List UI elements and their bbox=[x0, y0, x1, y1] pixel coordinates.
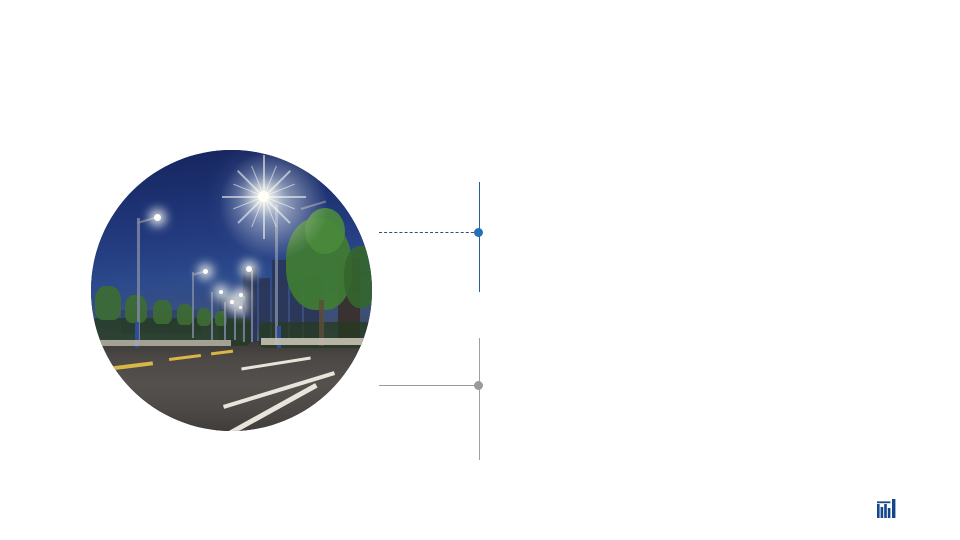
photo-tree bbox=[153, 300, 172, 324]
photo-lamp-light bbox=[239, 306, 242, 309]
photo-lamp-pole bbox=[192, 272, 194, 338]
photo-lamp-light bbox=[203, 269, 208, 274]
huapu-factory-logo-mark bbox=[877, 499, 897, 518]
photo-lamp-pole bbox=[234, 308, 236, 340]
photo-lamp-pole bbox=[211, 292, 213, 340]
connector-dot-people-first bbox=[474, 228, 483, 237]
photo-lamp-pole bbox=[251, 270, 253, 342]
photo-curb bbox=[261, 338, 372, 345]
section-rule-people-first bbox=[479, 182, 480, 292]
photo-tree bbox=[197, 308, 211, 326]
photo-tree bbox=[125, 295, 147, 323]
photo-lamp-light bbox=[246, 266, 252, 272]
photo-lamp-pole bbox=[243, 296, 245, 342]
night-road-photo bbox=[91, 150, 372, 431]
photo-curb bbox=[91, 340, 231, 346]
connector-dot-energy-saving bbox=[474, 381, 483, 390]
connector-line-people-first bbox=[379, 232, 479, 233]
photo-lamp-light bbox=[154, 214, 161, 221]
photo-lamp-pole bbox=[224, 302, 226, 340]
connector-line-energy-saving bbox=[379, 385, 479, 386]
slide-canvas bbox=[0, 0, 960, 540]
photo-tree bbox=[95, 286, 121, 320]
photo-road bbox=[91, 341, 372, 431]
photo-tree bbox=[344, 246, 372, 308]
photo-lamp-light bbox=[239, 293, 243, 297]
photo-lamp-light bbox=[219, 290, 223, 294]
brand-logo bbox=[877, 499, 912, 518]
section-rule-energy-saving bbox=[479, 338, 480, 460]
photo-lamp-light bbox=[230, 300, 234, 304]
photo-tree bbox=[177, 304, 193, 325]
